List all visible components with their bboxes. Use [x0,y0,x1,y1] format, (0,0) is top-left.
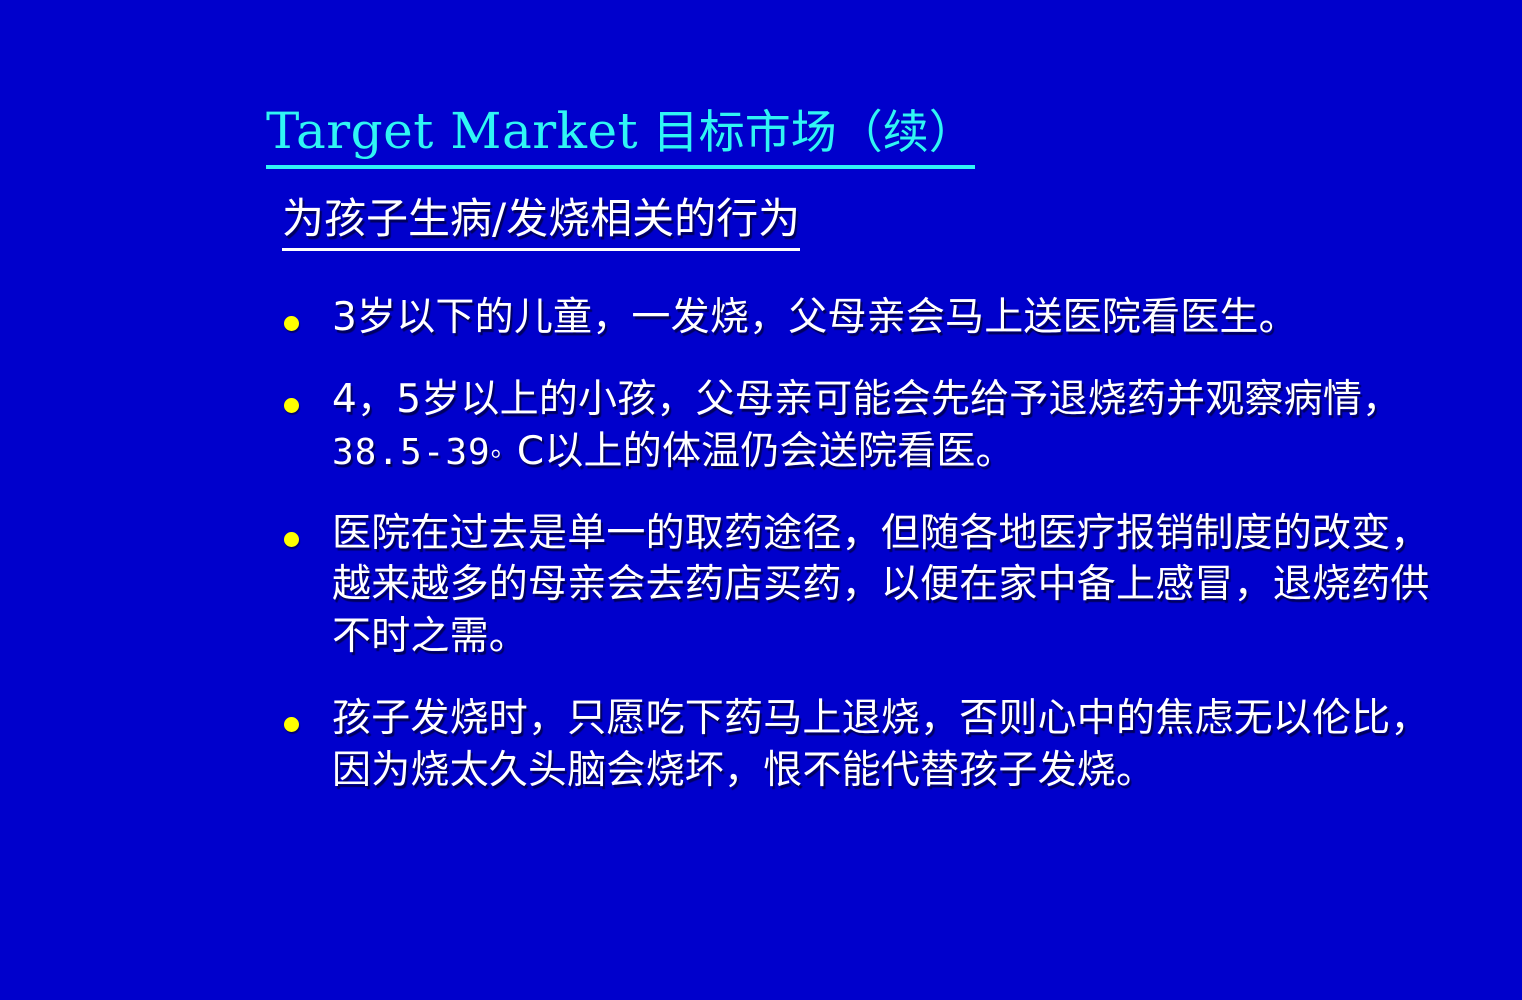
page-title-latin: Target Market [266,102,638,160]
degree-symbol: 。 [491,433,517,463]
title-block: Target Market 目标市场（续） [266,105,1106,169]
page-title: Target Market 目标市场（续） [266,105,975,169]
list-item-text-after: C以上的体温仍会送院看医。 [517,429,1015,474]
temperature-value: 38.5-39 [332,432,491,473]
bullet-dot-icon [284,717,299,732]
bullet-dot-icon [284,398,299,413]
page-subtitle: 为孩子生病/发烧相关的行为 [282,196,800,251]
list-item-text: 4，5岁以上的小孩，父母亲可能会先给予退烧药并观察病情，38.5-39。C以上的… [332,377,1401,474]
bullet-dot-icon [284,316,299,331]
list-item-text-before: 4，5岁以上的小孩，父母亲可能会先给予退烧药并观察病情， [332,377,1401,422]
bullet-dot-icon [284,532,299,547]
presentation-slide: Target Market 目标市场（续） 为孩子生病/发烧相关的行为 3岁以下… [0,0,1522,1000]
list-item: 孩子发烧时，只愿吃下药马上退烧，否则心中的焦虑无以伦比，因为烧太久头脑会烧坏，恨… [276,693,1466,797]
list-item: 3岁以下的儿童，一发烧，父母亲会马上送医院看医生。 [276,292,1466,344]
list-item-text: 孩子发烧时，只愿吃下药马上退烧，否则心中的焦虑无以伦比，因为烧太久头脑会烧坏，恨… [332,696,1430,793]
list-item: 医院在过去是单一的取药途径，但随各地医疗报销制度的改变，越来越多的母亲会去药店买… [276,508,1466,664]
list-item: 4，5岁以上的小孩，父母亲可能会先给予退烧药并观察病情，38.5-39。C以上的… [276,374,1466,478]
bullet-list: 3岁以下的儿童，一发烧，父母亲会马上送医院看医生。 4，5岁以上的小孩，父母亲可… [276,292,1466,797]
list-item-text: 医院在过去是单一的取药途径，但随各地医疗报销制度的改变，越来越多的母亲会去药店买… [332,511,1430,660]
subtitle-block: 为孩子生病/发烧相关的行为 [282,196,800,251]
list-item-text: 3岁以下的儿童，一发烧，父母亲会马上送医院看医生。 [332,295,1298,340]
page-title-chinese: 目标市场（续） [638,105,975,159]
